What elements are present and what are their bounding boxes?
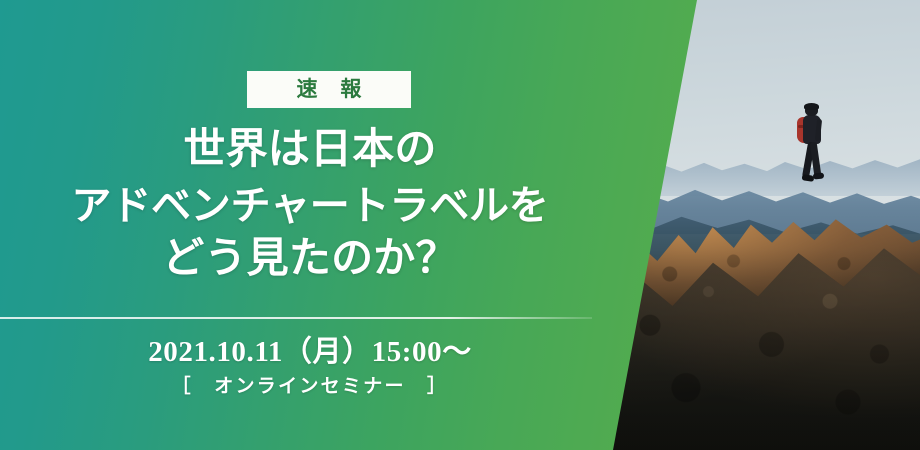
banner-content: 速 報 世界は日本の アドベンチャートラベルを どう見たのか？ 2021.10.…	[0, 0, 660, 450]
event-format-label: ［ オンラインセミナー ］	[0, 376, 620, 399]
seminar-banner: 速 報 世界は日本の アドベンチャートラベルを どう見たのか？ 2021.10.…	[0, 0, 920, 450]
event-date-time: 2021.10.11（月）15:00〜	[0, 335, 620, 370]
breaking-news-badge: 速 報	[247, 71, 411, 108]
banner-title-line-2: アドベンチャートラベルを	[0, 179, 620, 232]
breaking-news-badge-label: 速 報	[288, 79, 371, 100]
banner-title-line-3: どう見たのか？	[0, 232, 620, 288]
banner-title-line-1: 世界は日本の	[0, 123, 620, 179]
banner-title: 世界は日本の アドベンチャートラベルを どう見たのか？	[0, 123, 620, 288]
horizontal-divider	[0, 317, 592, 319]
